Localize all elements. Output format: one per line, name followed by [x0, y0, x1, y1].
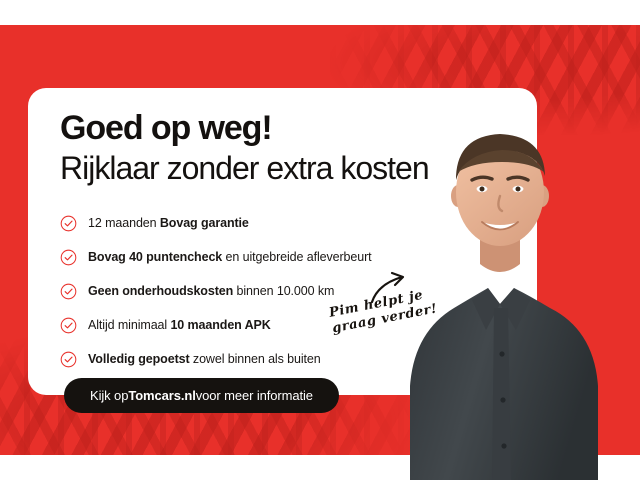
benefit-suffix: binnen 10.000 km: [233, 284, 334, 298]
cta-prefix: Kijk op: [90, 388, 128, 403]
check-circle-icon: [60, 249, 77, 266]
page-subtitle: Rijklaar zonder extra kosten: [60, 151, 537, 187]
benefit-label: Bovag 40 puntencheck en uitgebreide afle…: [88, 250, 372, 264]
benefit-label: Volledig gepoetst zowel binnen als buite…: [88, 352, 321, 366]
cta-suffix: voor meer informatie: [196, 388, 313, 403]
page-title: Goed op weg!: [60, 110, 537, 147]
benefits-list: 12 maanden Bovag garantie Bovag 40 punte…: [60, 209, 537, 374]
list-item: Altijd minimaal 10 maanden APK: [60, 311, 537, 340]
benefit-prefix: Altijd minimaal: [88, 318, 170, 332]
promo-banner: Goed op weg! Rijklaar zonder extra koste…: [0, 0, 640, 480]
benefit-suffix: zowel binnen als buiten: [190, 352, 321, 366]
cta-brand-label: Tomcars.nl: [128, 388, 195, 403]
check-circle-icon: [60, 317, 77, 334]
benefit-strong: 10 maanden APK: [170, 318, 270, 332]
benefit-strong: Bovag garantie: [160, 216, 249, 230]
list-item: Bovag 40 puntencheck en uitgebreide afle…: [60, 243, 537, 272]
card-content: Goed op weg! Rijklaar zonder extra koste…: [60, 110, 537, 379]
content-card: Goed op weg! Rijklaar zonder extra koste…: [28, 88, 537, 395]
cta-button[interactable]: Kijk op Tomcars.nl voor meer informatie: [64, 378, 339, 413]
benefit-strong: Geen onderhoudskosten: [88, 284, 233, 298]
benefit-label: Altijd minimaal 10 maanden APK: [88, 318, 271, 332]
benefit-strong: Bovag 40 puntencheck: [88, 250, 222, 264]
benefit-label: Geen onderhoudskosten binnen 10.000 km: [88, 284, 334, 298]
check-circle-icon: [60, 215, 77, 232]
list-item: Geen onderhoudskosten binnen 10.000 km: [60, 277, 537, 306]
benefit-prefix: 12 maanden: [88, 216, 160, 230]
benefit-suffix: en uitgebreide afleverbeurt: [222, 250, 371, 264]
list-item: Volledig gepoetst zowel binnen als buite…: [60, 345, 537, 374]
benefit-strong: Volledig gepoetst: [88, 352, 190, 366]
check-circle-icon: [60, 283, 77, 300]
check-circle-icon: [60, 351, 77, 368]
benefit-label: 12 maanden Bovag garantie: [88, 216, 249, 230]
list-item: 12 maanden Bovag garantie: [60, 209, 537, 238]
